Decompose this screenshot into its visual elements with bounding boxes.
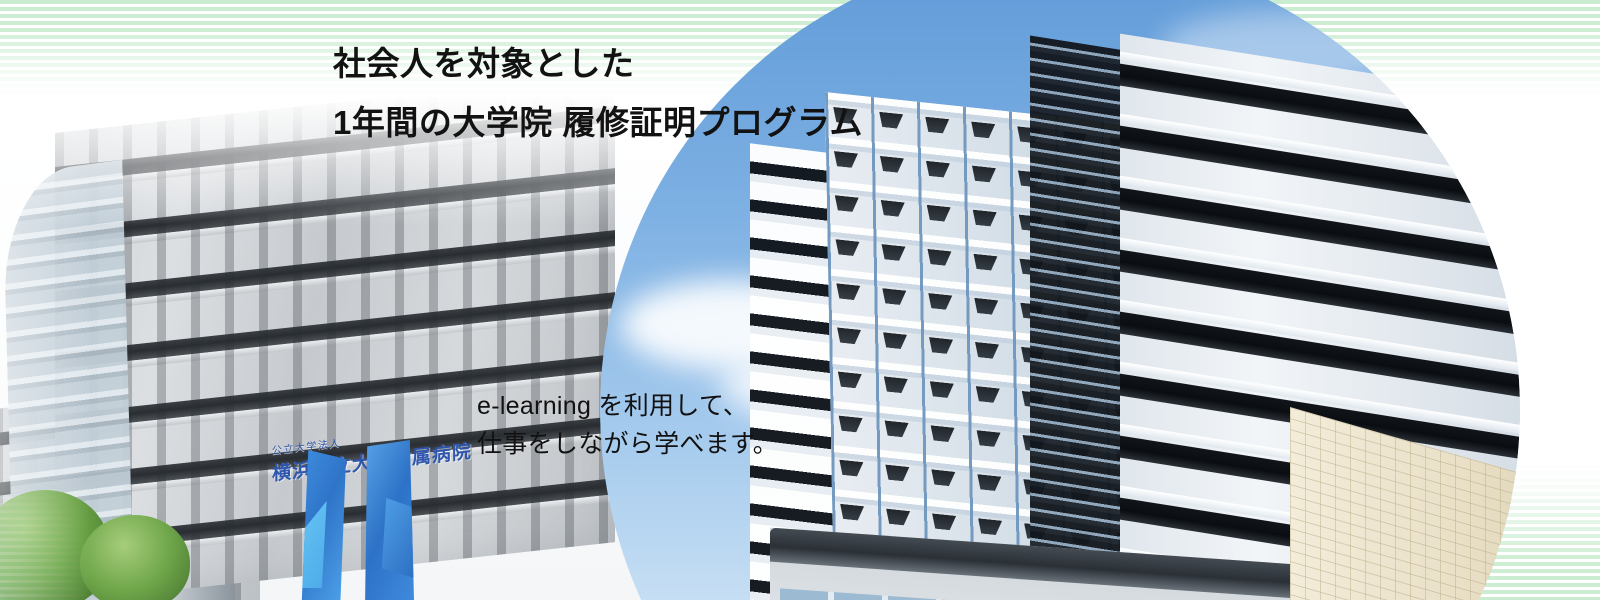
tree-right bbox=[80, 515, 190, 600]
balcony-sunshade bbox=[928, 293, 952, 311]
balcony-sunshade bbox=[840, 504, 864, 522]
balcony-sunshade bbox=[972, 166, 996, 184]
balcony-sunshade bbox=[836, 283, 860, 301]
promo-banner: 公立大学法人 横浜市立大学附属病院 bbox=[0, 0, 1600, 600]
balcony-sunshade bbox=[927, 249, 951, 267]
headline-line-2: 1年間の大学院 履修証明プログラム bbox=[333, 96, 863, 144]
balcony-sunshade bbox=[883, 332, 907, 350]
subtext-line-1: e-learning を利用して、 bbox=[477, 386, 748, 422]
balcony-sunshade bbox=[880, 156, 904, 174]
balcony-sunshade bbox=[882, 244, 906, 262]
balcony-sunshade bbox=[976, 386, 1000, 404]
balcony-sunshade bbox=[974, 298, 998, 316]
balcony-sunshade bbox=[931, 469, 955, 487]
balcony-sunshade bbox=[839, 416, 863, 434]
headline-line-1: 社会人を対象とした bbox=[333, 37, 635, 85]
balcony-sunshade bbox=[926, 161, 950, 179]
balcony-sunshade bbox=[879, 112, 903, 130]
balcony-sunshade bbox=[836, 239, 860, 257]
balcony-sunshade bbox=[973, 254, 997, 272]
balcony-sunshade bbox=[929, 337, 953, 355]
balcony-sunshade bbox=[925, 117, 949, 135]
balcony-sunshade bbox=[881, 200, 905, 218]
balcony-sunshade bbox=[977, 474, 1001, 492]
balcony-sunshade bbox=[837, 327, 861, 345]
balcony-sunshade bbox=[931, 425, 955, 443]
balcony-sunshade bbox=[886, 509, 910, 527]
balcony-sunshade bbox=[838, 371, 862, 389]
balcony-sunshade bbox=[971, 121, 995, 139]
balcony-sunshade bbox=[930, 381, 954, 399]
blue-sculpture-right bbox=[362, 440, 414, 600]
balcony-sunshade bbox=[885, 464, 909, 482]
balcony-sunshade bbox=[932, 513, 956, 531]
balcony-sunshade bbox=[834, 151, 858, 169]
balcony-sunshade bbox=[978, 518, 1002, 536]
balcony-sunshade bbox=[975, 342, 999, 360]
balcony-sunshade bbox=[839, 460, 863, 478]
balcony-sunshade bbox=[977, 430, 1001, 448]
balcony-sunshade bbox=[973, 210, 997, 228]
balcony-sunshade bbox=[884, 376, 908, 394]
university-tower-photo bbox=[600, 0, 1520, 600]
balcony-sunshade bbox=[835, 195, 859, 213]
balcony-sunshade bbox=[927, 205, 951, 223]
subtext-line-2: 仕事をしながら学べます。 bbox=[477, 424, 778, 460]
balcony-sunshade bbox=[885, 420, 909, 438]
balcony-sunshade bbox=[882, 288, 906, 306]
